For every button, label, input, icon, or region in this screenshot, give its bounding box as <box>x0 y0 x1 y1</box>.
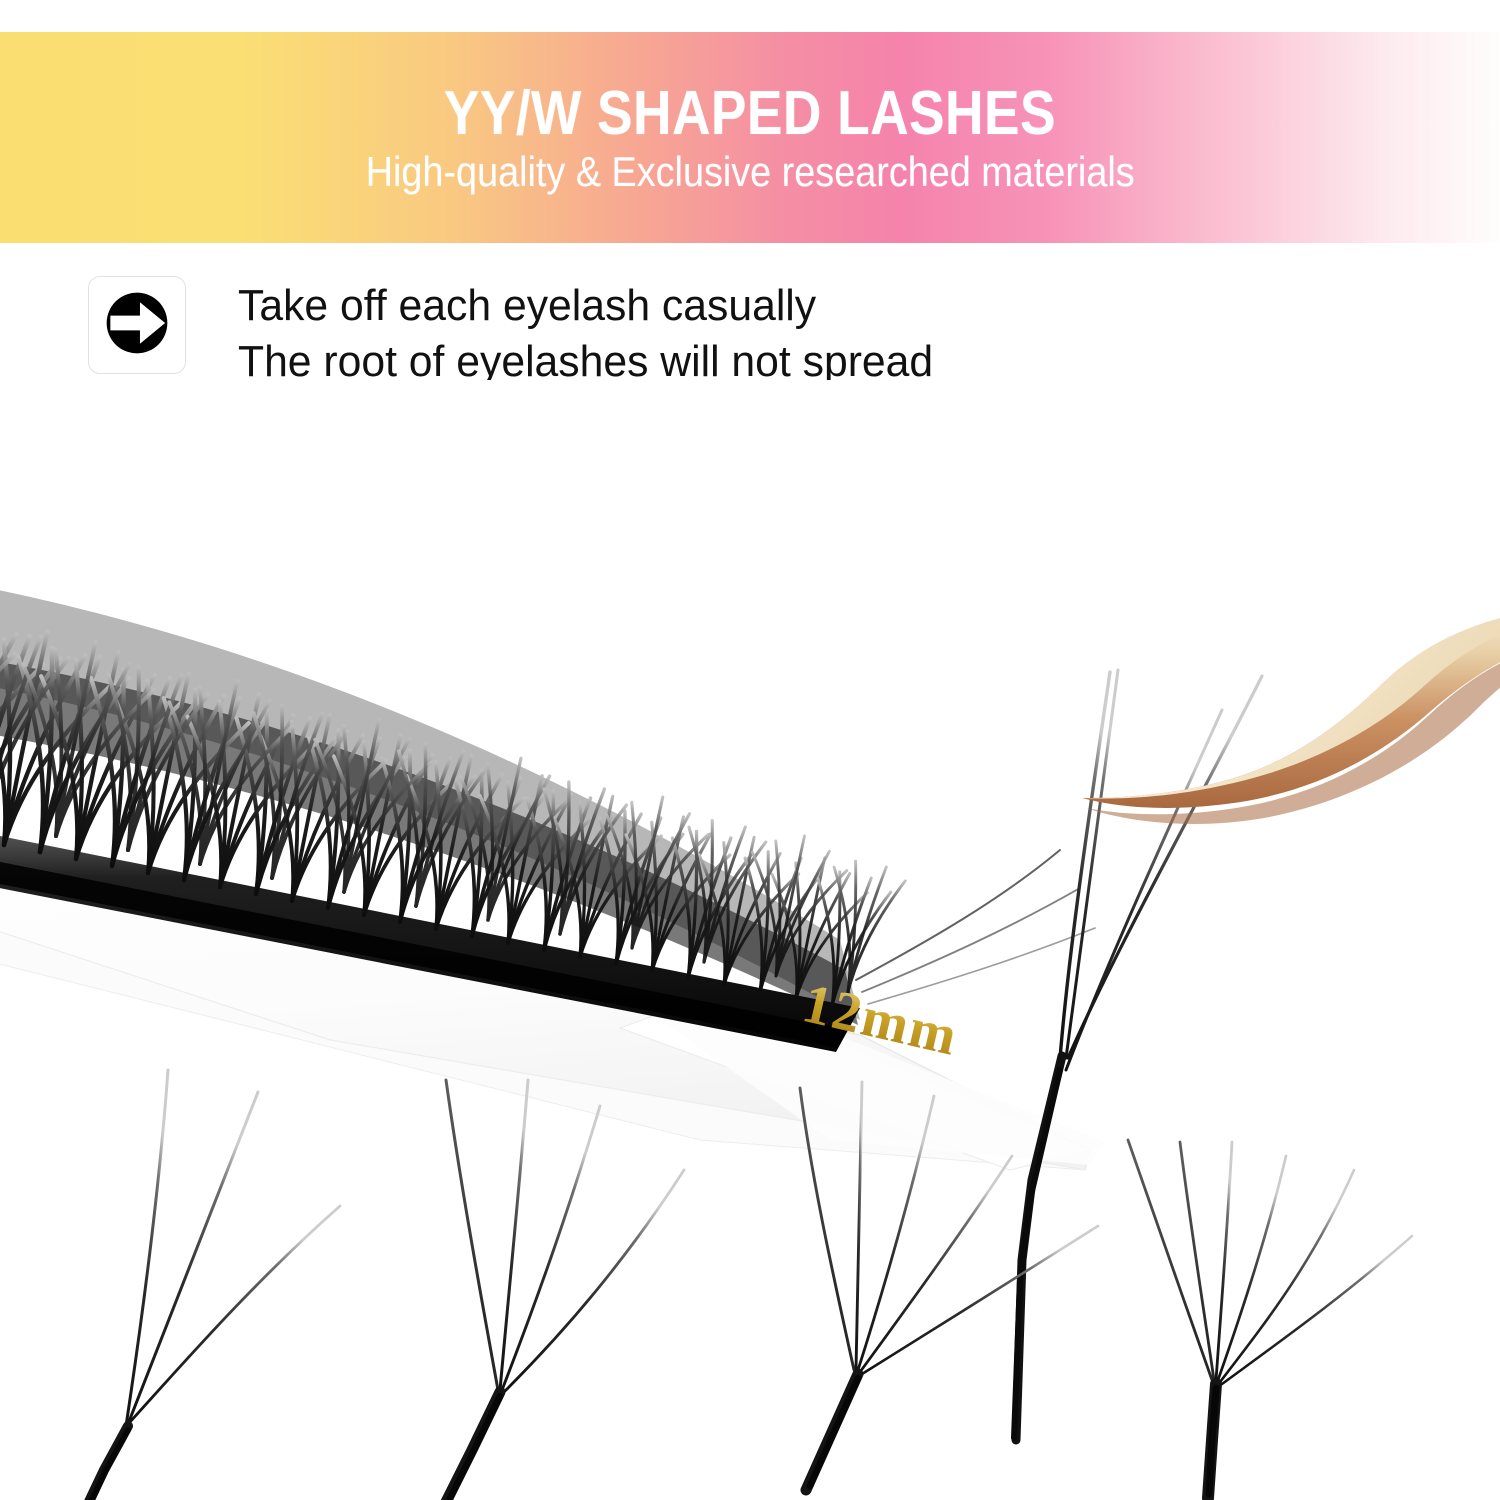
arrow-right-circle-icon <box>100 286 174 365</box>
header-banner: YY/W SHAPED LASHES High-quality & Exclus… <box>0 32 1500 243</box>
product-photo: 12mm <box>0 380 1500 1500</box>
feature-callout: Take off each eyelash casually The root … <box>88 276 955 391</box>
fan-4-branch <box>446 1080 684 1500</box>
fan-3-branch <box>86 1070 340 1500</box>
rose-gold-tweezer <box>1082 610 1500 824</box>
page-subtitle: High-quality & Exclusive researched mate… <box>366 151 1135 193</box>
page-title: YY/W SHAPED LASHES <box>444 83 1056 145</box>
fan-6-branch <box>1128 1140 1412 1498</box>
product-photo-svg: 12mm <box>0 380 1500 1500</box>
callout-icon-box <box>88 276 186 374</box>
callout-line-1: Take off each eyelash casually <box>238 278 933 334</box>
callout-text: Take off each eyelash casually The root … <box>238 276 955 391</box>
